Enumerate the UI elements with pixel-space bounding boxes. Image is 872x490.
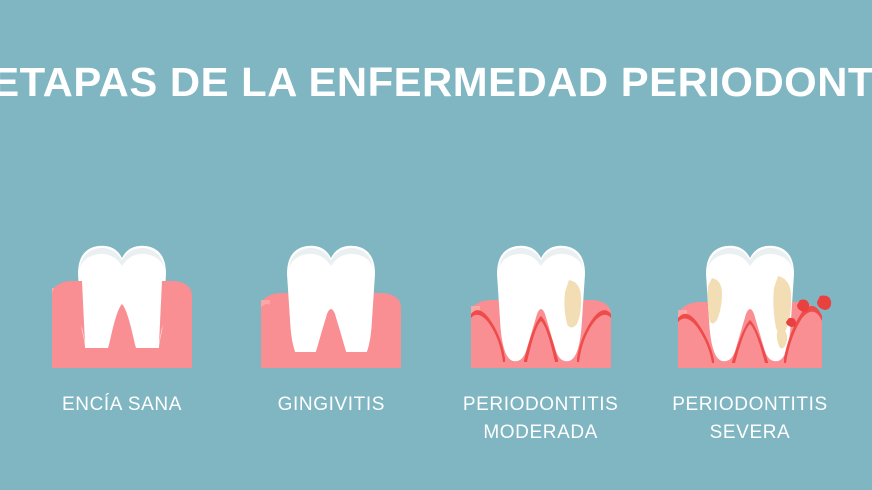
stage-label-encia-sana: ENCÍA SANA: [22, 391, 222, 419]
page-title: ETAPAS DE LA ENFERMEDAD PERIODONTAL: [0, 58, 872, 106]
stage-periodontitis-severa: PERIODONTITIS SEVERA: [650, 236, 850, 447]
stage-label-line1: GINGIVITIS: [278, 394, 385, 415]
tooth-illustration-severe: [650, 236, 850, 370]
tooth-illustration-gingivitis: [231, 236, 431, 370]
stage-label-line1: PERIODONTITIS: [672, 394, 828, 415]
stage-label-periodontitis-moderada: PERIODONTITIS MODERADA: [441, 391, 641, 447]
stage-label-line1: ENCÍA SANA: [62, 394, 182, 415]
gum-base: [678, 363, 822, 368]
stage-gingivitis: GINGIVITIS: [231, 236, 431, 419]
tooth-illustration-moderate: [441, 236, 641, 370]
blood-droplet-2: [817, 296, 831, 310]
stage-encia-sana: ENCÍA SANA: [22, 236, 222, 419]
gum-base: [261, 352, 401, 368]
stage-label-gingivitis: GINGIVITIS: [231, 391, 431, 419]
stage-label-line2: SEVERA: [650, 419, 850, 447]
gum-base: [471, 362, 611, 368]
infographic-poster: ETAPAS DE LA ENFERMEDAD PERIODONTAL: [0, 0, 872, 490]
stages-row: ENCÍA SANA GINGIVITIS: [0, 236, 872, 451]
tooth-illustration-healthy: [22, 236, 222, 370]
stage-label-line1: PERIODONTITIS: [463, 394, 619, 415]
stage-label-line2: MODERADA: [441, 419, 641, 447]
stage-label-periodontitis-severa: PERIODONTITIS SEVERA: [650, 391, 850, 447]
stage-periodontitis-moderada: PERIODONTITIS MODERADA: [441, 236, 641, 447]
